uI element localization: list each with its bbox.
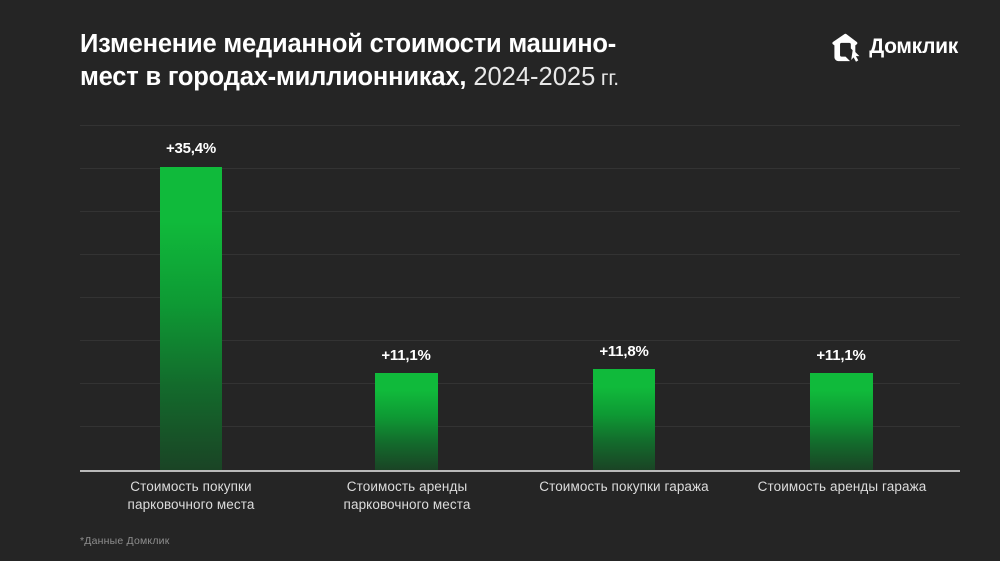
bar-value-2: +11,8% <box>549 343 699 360</box>
bar-chart: +35,4% +11,1% +11,8% +11,1% Стоимость по… <box>0 0 1000 561</box>
category-label-1: Стоимость аренды парковочного места <box>302 478 512 514</box>
bar-0[interactable] <box>160 167 222 470</box>
chart-page: Изменение медианной стоимости машино- ме… <box>0 0 1000 561</box>
bar-2[interactable] <box>593 369 655 470</box>
bar-3[interactable] <box>810 373 873 470</box>
category-label-0: Стоимость покупки парковочного места <box>86 478 296 514</box>
bar-1[interactable] <box>375 373 438 470</box>
category-label-1-line-1: парковочного места <box>302 496 512 514</box>
category-label-0-line-0: Стоимость покупки <box>86 478 296 496</box>
category-label-1-line-0: Стоимость аренды <box>302 478 512 496</box>
category-label-3: Стоимость аренды гаража <box>737 478 947 496</box>
gridline <box>80 125 960 126</box>
bar-value-3: +11,1% <box>766 347 916 364</box>
bar-value-0: +35,4% <box>116 140 266 157</box>
category-label-2-line-0: Стоимость покупки гаража <box>519 478 729 496</box>
x-axis-line <box>80 470 960 472</box>
footnote: *Данные Домклик <box>80 535 170 547</box>
bar-value-1: +11,1% <box>331 347 481 364</box>
category-label-0-line-1: парковочного места <box>86 496 296 514</box>
category-label-2: Стоимость покупки гаража <box>519 478 729 496</box>
category-label-3-line-0: Стоимость аренды гаража <box>737 478 947 496</box>
